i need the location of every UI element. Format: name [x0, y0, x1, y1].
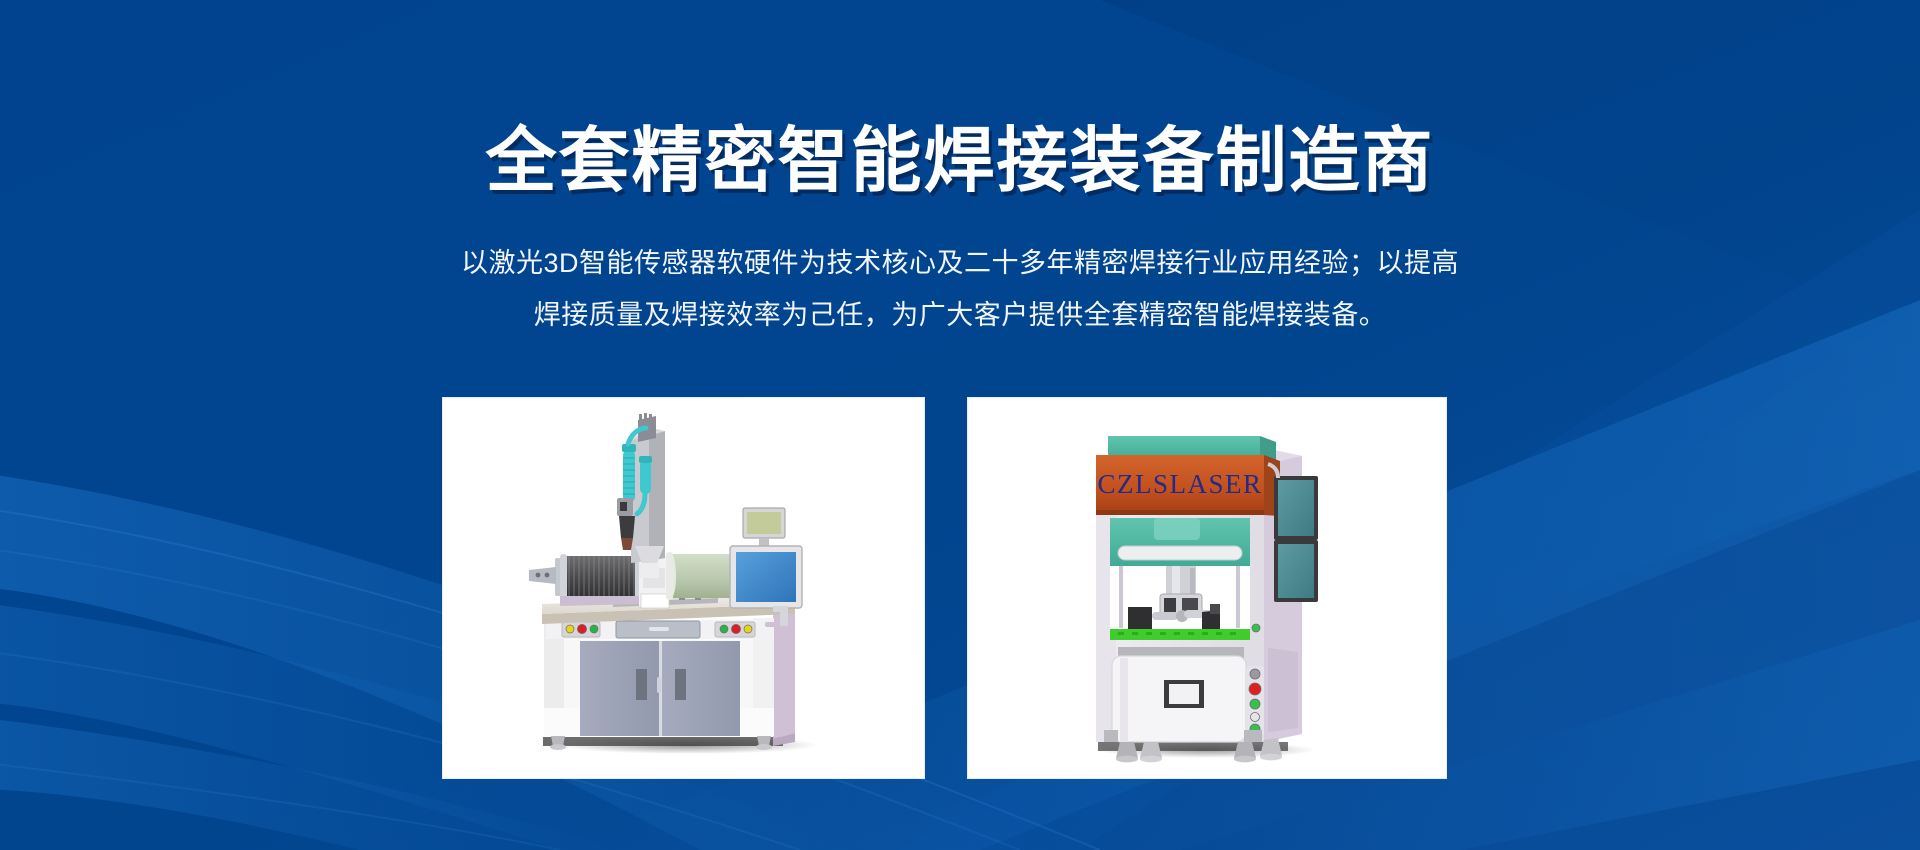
- indicator-light-red: [1249, 683, 1261, 695]
- product-gallery: 精密智能焊接工作台设备: [443, 398, 1446, 778]
- product-card-right[interactable]: CZLSLASER 精密激光焊接机: [968, 398, 1446, 778]
- indicator-light-yellow-right: [744, 625, 752, 633]
- laser-welding-workstation-illustration: [443, 398, 924, 778]
- subtitle-line-1: 以激光3D智能传感器软硬件为技术核心及二十多年精密焊接行业应用经验；以提高: [400, 237, 1520, 289]
- indicator-light-green-left: [590, 625, 598, 633]
- banner-stage: 全套精密智能焊接装备制造商 以激光3D智能传感器软硬件为技术核心及二十多年精密焊…: [0, 0, 1920, 850]
- indicator-light-small-green: [1252, 624, 1260, 632]
- indicator-light-green-right: [720, 625, 728, 633]
- indicator-light-grey: [1250, 669, 1260, 679]
- czlslaser-cabinet-welder-illustration: CZLSLASER: [968, 398, 1446, 778]
- indicator-light-green-1: [1250, 699, 1260, 709]
- product-card-left[interactable]: 精密智能焊接工作台设备: [443, 398, 924, 778]
- page-subtitle: 以激光3D智能传感器软硬件为技术核心及二十多年精密焊接行业应用经验；以提高 焊接…: [400, 237, 1520, 341]
- subtitle-line-2: 焊接质量及焊接效率为己任，为广大客户提供全套精密智能焊接装备。: [400, 289, 1520, 341]
- indicator-light-yellow-left: [566, 625, 574, 633]
- brand-text: CZLSLASER: [1097, 469, 1262, 499]
- indicator-light-red-left: [577, 624, 586, 633]
- indicator-light-white: [1251, 713, 1260, 722]
- page-title: 全套精密智能焊接装备制造商: [0, 124, 1920, 201]
- indicator-light-red-right: [731, 624, 740, 633]
